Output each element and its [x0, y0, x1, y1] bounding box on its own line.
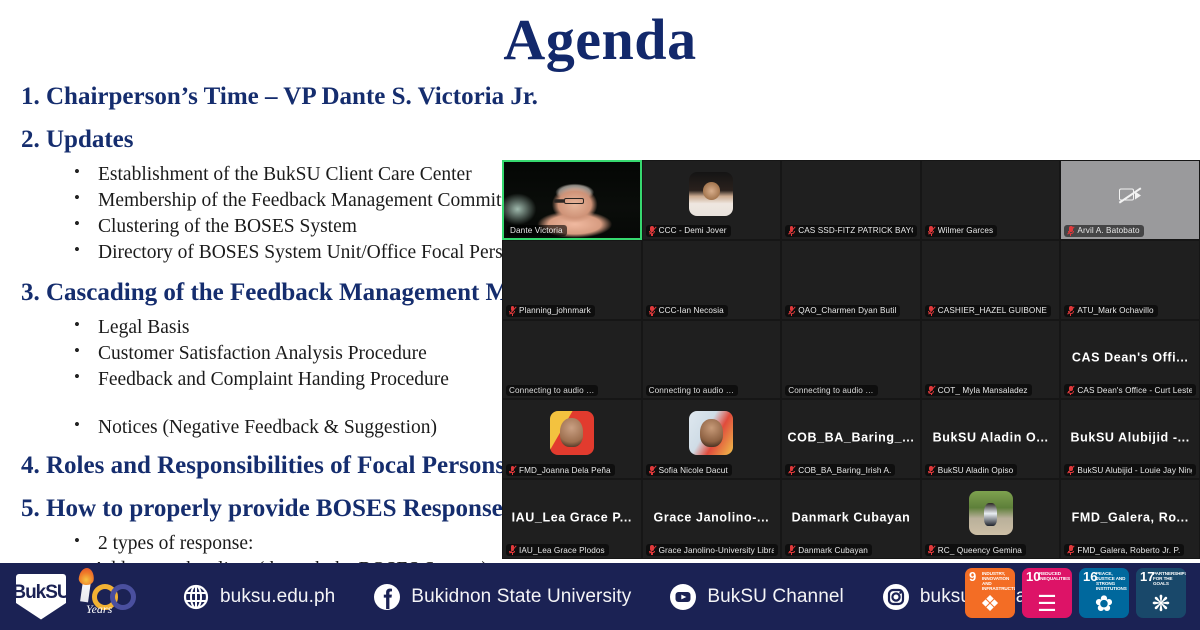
- participant-tile[interactable]: IAU_Lea Grace P...IAU_Lea Grace Plodos: [502, 479, 642, 559]
- participant-tile[interactable]: Arvil A. Batobato: [1060, 160, 1200, 240]
- avatar: [550, 411, 594, 455]
- agenda-heading-2: 2. Updates: [21, 127, 1178, 152]
- participant-name: IAU_Lea Grace Plodos: [519, 546, 605, 555]
- zoom-participant-grid: Dante VictoriaCCC - Demi JoverCAS SSD-FI…: [502, 160, 1200, 559]
- camera-off-icon: [1119, 187, 1141, 204]
- participant-initials-name: IAU_Lea Grace P...: [503, 511, 641, 525]
- participant-tile[interactable]: Grace Janolino-...Grace Janolino-Univers…: [642, 479, 782, 559]
- participant-tile[interactable]: CAS SSD-FITZ PATRICK BAYO: [781, 160, 921, 240]
- instagram-icon: [882, 583, 910, 611]
- participant-name: Planning_johnmark: [519, 306, 591, 315]
- sdg-glyph-icon: ❋: [1136, 593, 1186, 615]
- participant-tile[interactable]: ATU_Mark Ochavillo: [1060, 240, 1200, 320]
- footer-link-website[interactable]: buksu.edu.ph: [182, 583, 335, 611]
- participant-initials-name: COB_BA_Baring_...: [782, 431, 920, 445]
- participant-tile[interactable]: CCC-Ian Necosia: [642, 240, 782, 320]
- participant-name-bar: Connecting to audio …: [506, 385, 598, 396]
- sdg-badge-10: 10 Reduced Inequalities ☰: [1022, 568, 1072, 618]
- participant-name-bar: Dante Victoria: [507, 225, 567, 236]
- participant-tile[interactable]: CAS Dean's Offi...CAS Dean's Office - Cu…: [1060, 320, 1200, 400]
- participant-tile[interactable]: Connecting to audio …: [642, 320, 782, 400]
- participant-name: FMD_Joanna Dela Peña: [519, 466, 611, 475]
- facebook-icon: [373, 583, 401, 611]
- participant-initials-name: CAS Dean's Offi...: [1061, 351, 1199, 365]
- participant-name: Danmark Cubayan: [798, 546, 868, 555]
- footer-link-youtube[interactable]: BukSU Channel: [669, 583, 844, 611]
- zoom-meeting-window[interactable]: Dante VictoriaCCC - Demi JoverCAS SSD-FI…: [502, 160, 1200, 559]
- participant-name-bar: Connecting to audio …: [785, 385, 877, 396]
- participant-name-bar: CAS SSD-FITZ PATRICK BAYO: [785, 225, 917, 237]
- mic-muted-icon: [1067, 465, 1074, 475]
- participant-initials-name: Danmark Cubayan: [782, 511, 920, 525]
- participant-name-bar: CCC-Ian Necosia: [646, 305, 728, 317]
- participant-name: BukSU Alubijid - Louie Jay Ningasca: [1077, 466, 1192, 475]
- participant-tile[interactable]: Wilmer Garces: [921, 160, 1061, 240]
- sdg-badge-16: 16 Peace, Justice and Strong Institution…: [1079, 568, 1129, 618]
- participant-name: CCC-Ian Necosia: [659, 306, 724, 315]
- participant-name-bar: CASHIER_HAZEL GUIBONE: [925, 305, 1051, 317]
- participant-name: QAO_Charmen Dyan Butil: [798, 306, 896, 315]
- participant-name: COB_BA_Baring_Irish A.: [798, 466, 891, 475]
- participant-name: Dante Victoria: [510, 226, 563, 235]
- mic-muted-icon: [788, 545, 795, 555]
- participant-initials-name: BukSU Aladin O...: [922, 431, 1060, 445]
- participant-tile[interactable]: BukSU Alubijid -...BukSU Alubijid - Loui…: [1060, 399, 1200, 479]
- participant-name-bar: QAO_Charmen Dyan Butil: [785, 305, 900, 317]
- participant-initials-name: BukSU Alubijid -...: [1061, 431, 1199, 445]
- mic-muted-icon: [928, 226, 935, 236]
- mic-muted-icon: [649, 545, 656, 555]
- sdg-badge-17: 17 Partnerships for the Goals ❋: [1136, 568, 1186, 618]
- participant-name-bar: FMD_Joanna Dela Peña: [506, 464, 615, 476]
- footer-link-facebook[interactable]: Bukidnon State University: [373, 583, 631, 611]
- participant-name: CAS SSD-FITZ PATRICK BAYO: [798, 226, 913, 235]
- anniversary-label: Years: [86, 602, 112, 617]
- mic-muted-icon: [928, 465, 935, 475]
- participant-initials-name: Grace Janolino-...: [643, 511, 781, 525]
- participant-name: Wilmer Garces: [938, 226, 993, 235]
- participant-tile[interactable]: COB_BA_Baring_...COB_BA_Baring_Irish A.: [781, 399, 921, 479]
- sdg-caption: Partnerships for the Goals: [1153, 571, 1183, 586]
- youtube-icon: [669, 583, 697, 611]
- participant-tile[interactable]: Connecting to audio …: [502, 320, 642, 400]
- globe-icon: [182, 583, 210, 611]
- participant-name-bar: ATU_Mark Ochavillo: [1064, 305, 1157, 317]
- sdg-badge-9: 9 Industry, Innovation and Infrastructur…: [965, 568, 1015, 618]
- mic-muted-icon: [1067, 226, 1074, 236]
- sdg-number: 9: [969, 570, 976, 583]
- mic-muted-icon: [788, 226, 795, 236]
- participant-name: FMD_Galera, Roberto Jr. P.: [1077, 546, 1180, 555]
- participant-name-bar: Danmark Cubayan: [785, 544, 872, 556]
- mic-muted-icon: [928, 306, 935, 316]
- participant-name: RC_ Queency Gemina: [938, 546, 1022, 555]
- participant-name-bar: RC_ Queency Gemina: [925, 544, 1026, 556]
- participant-tile[interactable]: QAO_Charmen Dyan Butil: [781, 240, 921, 320]
- mic-muted-icon: [649, 306, 656, 316]
- sdg-caption: Peace, Justice and Strong Institutions: [1096, 571, 1126, 592]
- page-title: Agenda: [0, 6, 1200, 73]
- sdg-glyph-icon: ❖: [965, 593, 1015, 615]
- participant-tile[interactable]: BukSU Aladin O...BukSU Aladin Opiso: [921, 399, 1061, 479]
- participant-name-bar: IAU_Lea Grace Plodos: [506, 544, 609, 556]
- sdg-badges: 9 Industry, Innovation and Infrastructur…: [965, 568, 1186, 618]
- participant-name-bar: BukSU Alubijid - Louie Jay Ningasca: [1064, 464, 1196, 476]
- buksu-shield-icon: BukSU: [16, 574, 66, 620]
- buksu-logo: BukSU Years: [8, 568, 158, 626]
- mic-muted-icon: [509, 306, 516, 316]
- mic-muted-icon: [509, 465, 516, 475]
- mic-muted-icon: [788, 306, 795, 316]
- participant-name: CAS Dean's Office - Curt Lester Tabada: [1077, 386, 1192, 395]
- sdg-glyph-icon: ☰: [1022, 593, 1072, 615]
- avatar: [689, 172, 733, 216]
- participant-name: ATU_Mark Ochavillo: [1077, 306, 1153, 315]
- participant-tile[interactable]: Dante Victoria: [502, 160, 642, 240]
- participant-name-bar: CCC - Demi Jover: [646, 225, 731, 237]
- mic-muted-icon: [928, 545, 935, 555]
- participant-tile[interactable]: FMD_Joanna Dela Peña: [502, 399, 642, 479]
- footer-link-label: BukSU Channel: [707, 586, 844, 608]
- footer-link-label: buksu.edu.ph: [220, 586, 335, 608]
- mic-muted-icon: [649, 226, 656, 236]
- participant-name: Connecting to audio …: [649, 386, 734, 395]
- sdg-caption: Reduced Inequalities: [1039, 571, 1069, 581]
- participant-name-bar: COT_ Myla Mansaladez: [925, 384, 1032, 396]
- participant-tile[interactable]: Planning_johnmark: [502, 240, 642, 320]
- participant-tile[interactable]: RC_ Queency Gemina: [921, 479, 1061, 559]
- participant-tile[interactable]: Connecting to audio …: [781, 320, 921, 400]
- avatar: [689, 411, 733, 455]
- mic-muted-icon: [649, 465, 656, 475]
- participant-name-bar: Connecting to audio …: [646, 385, 738, 396]
- participant-name-bar: BukSU Aladin Opiso: [925, 464, 1018, 476]
- participant-name: Sofia Nicole Dacut: [659, 466, 728, 475]
- buksu-logo-text: BukSU: [21, 578, 61, 608]
- agenda-heading-1: 1. Chairperson’s Time – VP Dante S. Vict…: [21, 84, 1178, 109]
- flame-icon: [78, 567, 95, 585]
- anniversary-emblem-icon: Years: [68, 572, 152, 622]
- mic-muted-icon: [928, 385, 935, 395]
- avatar: [969, 491, 1013, 535]
- participant-name-bar: COB_BA_Baring_Irish A.: [785, 464, 895, 476]
- participant-name-bar: Grace Janolino-University Library: [646, 544, 778, 556]
- mic-muted-icon: [1067, 545, 1074, 555]
- participant-name: Grace Janolino-University Library: [659, 546, 774, 555]
- participant-name: COT_ Myla Mansaladez: [938, 386, 1028, 395]
- mic-muted-icon: [1067, 306, 1074, 316]
- participant-name-bar: Planning_johnmark: [506, 305, 595, 317]
- participant-name-bar: Arvil A. Batobato: [1064, 225, 1143, 237]
- participant-tile[interactable]: CCC - Demi Jover: [642, 160, 782, 240]
- participant-tile[interactable]: COT_ Myla Mansaladez: [921, 320, 1061, 400]
- mic-muted-icon: [509, 545, 516, 555]
- mic-muted-icon: [1067, 385, 1074, 395]
- footer-link-label: Bukidnon State University: [411, 586, 631, 608]
- participant-name-bar: Wilmer Garces: [925, 225, 997, 237]
- participant-name: BukSU Aladin Opiso: [938, 466, 1014, 475]
- participant-name: Connecting to audio …: [788, 386, 873, 395]
- participant-name: Connecting to audio …: [509, 386, 594, 395]
- participant-name-bar: CAS Dean's Office - Curt Lester Tabada: [1064, 384, 1196, 396]
- sdg-caption: Industry, Innovation and Infrastructure: [982, 571, 1012, 592]
- participant-initials-name: FMD_Galera, Ro...: [1061, 511, 1199, 525]
- participant-name-bar: Sofia Nicole Dacut: [646, 464, 732, 476]
- participant-tile[interactable]: FMD_Galera, Ro...FMD_Galera, Roberto Jr.…: [1060, 479, 1200, 559]
- participant-name-bar: FMD_Galera, Roberto Jr. P.: [1064, 544, 1184, 556]
- sdg-glyph-icon: ✿: [1079, 593, 1129, 615]
- participant-name: CCC - Demi Jover: [659, 226, 727, 235]
- mic-muted-icon: [788, 465, 795, 475]
- participant-tile[interactable]: Sofia Nicole Dacut: [642, 399, 782, 479]
- participant-tile[interactable]: Danmark CubayanDanmark Cubayan: [781, 479, 921, 559]
- participant-tile[interactable]: CASHIER_HAZEL GUIBONE: [921, 240, 1061, 320]
- participant-name: Arvil A. Batobato: [1077, 226, 1139, 235]
- participant-name: CASHIER_HAZEL GUIBONE: [938, 306, 1047, 315]
